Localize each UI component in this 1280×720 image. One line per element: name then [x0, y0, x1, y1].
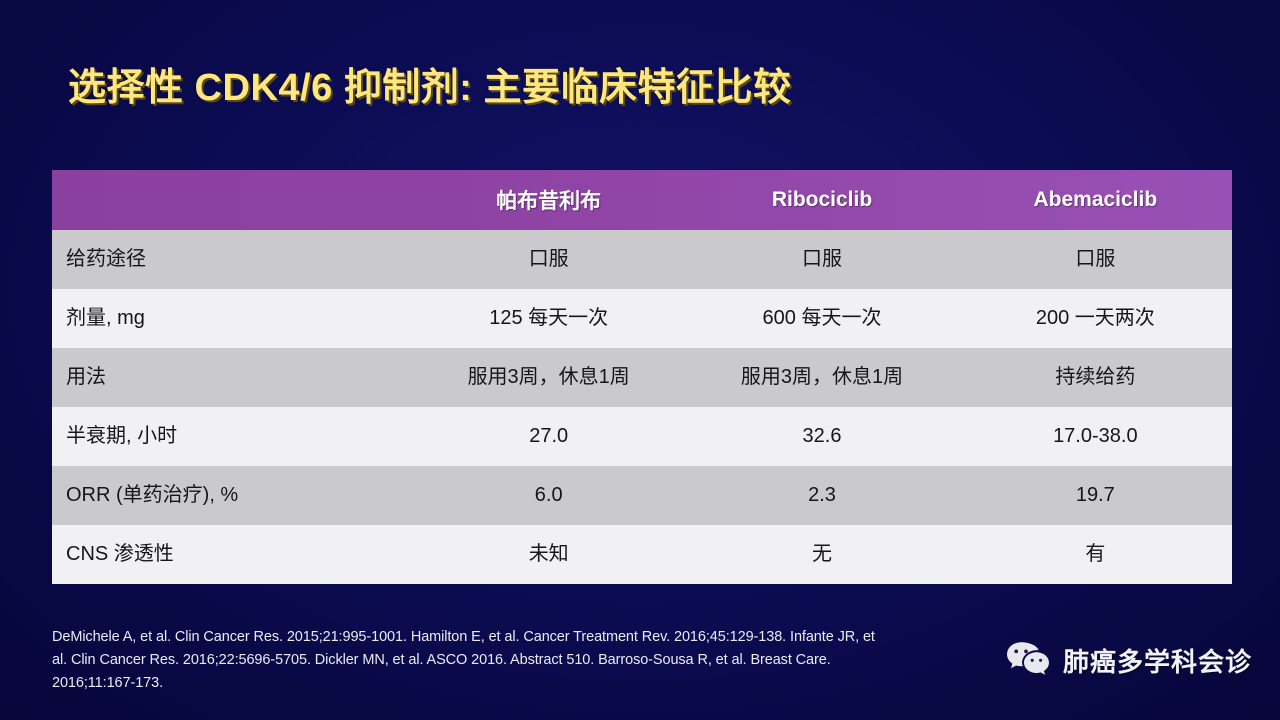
comparison-table: 帕布昔利布 Ribociclib Abemaciclib 给药途径 口服 口服 … — [52, 170, 1232, 584]
table-row: 半衰期, 小时 27.0 32.6 17.0-38.0 — [52, 407, 1232, 466]
table-row: ORR (单药治疗), % 6.0 2.3 19.7 — [52, 466, 1232, 525]
cell-cns-penetration-abemaciclib: 有 — [959, 525, 1232, 584]
cell-dose-palbociclib: 125 每天一次 — [412, 289, 685, 348]
table-header: 帕布昔利布 Ribociclib Abemaciclib — [52, 170, 1232, 230]
cell-orr-ribociclib: 2.3 — [685, 466, 958, 525]
cell-cns-penetration-palbociclib: 未知 — [412, 525, 685, 584]
cell-cns-penetration-ribociclib: 无 — [685, 525, 958, 584]
brand-logo: 肺癌多学科会诊 — [1005, 640, 1252, 680]
row-label-half-life: 半衰期, 小时 — [52, 407, 412, 466]
column-header-ribociclib: Ribociclib — [685, 170, 958, 230]
row-label-schedule: 用法 — [52, 348, 412, 407]
comparison-table-container: 帕布昔利布 Ribociclib Abemaciclib 给药途径 口服 口服 … — [52, 170, 1232, 584]
row-label-administration-route: 给药途径 — [52, 230, 412, 289]
cell-administration-route-abemaciclib: 口服 — [959, 230, 1232, 289]
cell-administration-route-palbociclib: 口服 — [412, 230, 685, 289]
column-header-blank — [52, 170, 412, 230]
row-label-dose: 剂量, mg — [52, 289, 412, 348]
cell-dose-ribociclib: 600 每天一次 — [685, 289, 958, 348]
table-row: 用法 服用3周，休息1周 服用3周，休息1周 持续给药 — [52, 348, 1232, 407]
row-label-orr: ORR (单药治疗), % — [52, 466, 412, 525]
brand-name-label: 肺癌多学科会诊 — [1063, 642, 1252, 679]
cell-orr-abemaciclib: 19.7 — [959, 466, 1232, 525]
table-row: CNS 渗透性 未知 无 有 — [52, 525, 1232, 584]
column-header-palbociclib: 帕布昔利布 — [412, 170, 685, 230]
row-label-cns-penetration: CNS 渗透性 — [52, 525, 412, 584]
citation-footnote: DeMichele A, et al. Clin Cancer Res. 201… — [52, 626, 882, 695]
table-header-row: 帕布昔利布 Ribociclib Abemaciclib — [52, 170, 1232, 230]
table-row: 剂量, mg 125 每天一次 600 每天一次 200 一天两次 — [52, 289, 1232, 348]
cell-orr-palbociclib: 6.0 — [412, 466, 685, 525]
page-title: 选择性 CDK4/6 抑制剂: 主要临床特征比较 — [68, 56, 1218, 111]
cell-schedule-abemaciclib: 持续给药 — [959, 348, 1232, 407]
cell-administration-route-ribociclib: 口服 — [685, 230, 958, 289]
cell-half-life-palbociclib: 27.0 — [412, 407, 685, 466]
cell-schedule-ribociclib: 服用3周，休息1周 — [685, 348, 958, 407]
slide-canvas: 选择性 CDK4/6 抑制剂: 主要临床特征比较 帕布昔利布 Ribocicli… — [0, 0, 1280, 720]
column-header-abemaciclib: Abemaciclib — [959, 170, 1232, 230]
cell-dose-abemaciclib: 200 一天两次 — [959, 289, 1232, 348]
cell-half-life-abemaciclib: 17.0-38.0 — [959, 407, 1232, 466]
table-row: 给药途径 口服 口服 口服 — [52, 230, 1232, 289]
table-body: 给药途径 口服 口服 口服 剂量, mg 125 每天一次 600 每天一次 2… — [52, 230, 1232, 584]
cell-half-life-ribociclib: 32.6 — [685, 407, 958, 466]
wechat-icon — [1005, 640, 1051, 680]
cell-schedule-palbociclib: 服用3周，休息1周 — [412, 348, 685, 407]
